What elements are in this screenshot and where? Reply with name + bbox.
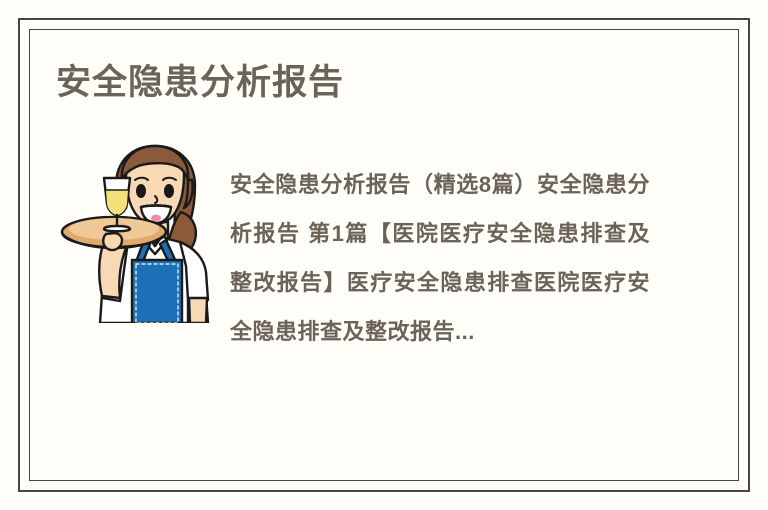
article-summary-text: 安全隐患分析报告（精选8篇）安全隐患分析报告 第1篇【医院医疗安全隐患排查及整改… — [230, 160, 650, 356]
page-title: 安全隐患分析报告 — [56, 62, 344, 104]
apron-bib — [132, 260, 182, 323]
eye-right — [164, 184, 174, 198]
eye-left — [136, 184, 146, 198]
hand-left — [103, 233, 122, 250]
waitress-illustration-svg — [56, 138, 222, 323]
card-content-row: 安全隐患分析报告（精选8篇）安全隐患分析报告 第1篇【医院医疗安全隐患排查及整改… — [56, 138, 676, 428]
waitress-with-tray-illustration — [56, 138, 222, 323]
tongue — [151, 215, 161, 222]
article-thumbnail-card: 安全隐患分析报告 — [0, 0, 768, 510]
forearm-right — [189, 298, 207, 323]
wine-glass-base — [104, 226, 130, 231]
